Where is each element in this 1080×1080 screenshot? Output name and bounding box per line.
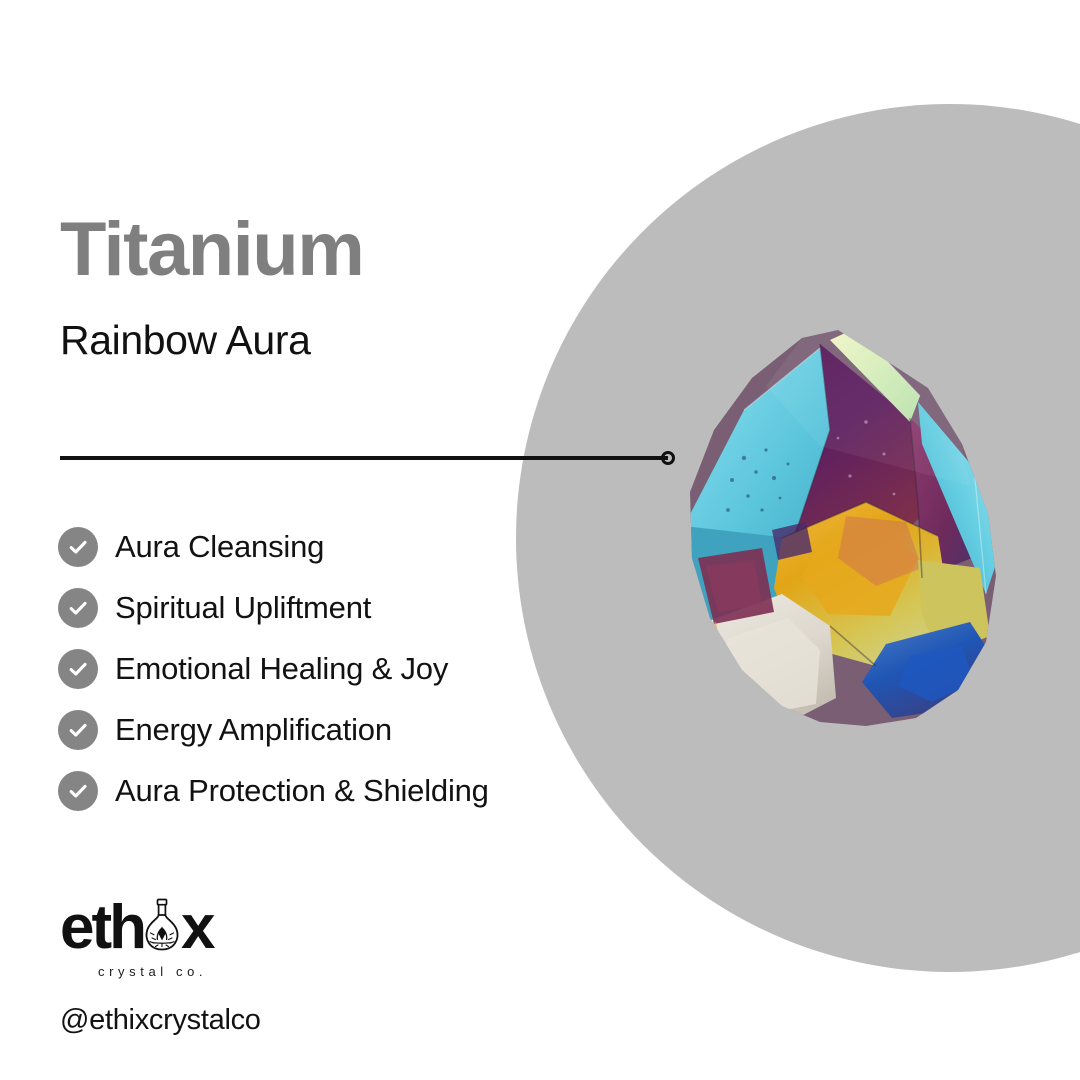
list-item: Emotional Healing & Joy xyxy=(58,638,618,699)
pointer-node-icon xyxy=(661,451,675,465)
check-circle-icon xyxy=(58,588,98,628)
benefit-label: Aura Cleansing xyxy=(115,531,324,562)
list-item: Aura Protection & Shielding xyxy=(58,760,618,821)
check-circle-icon xyxy=(58,771,98,811)
wordmark-text-right: x xyxy=(181,899,212,956)
promo-card: Titanium Rainbow Aura Aura Cleansing Spi… xyxy=(0,0,1080,1080)
potion-flask-icon xyxy=(142,898,182,956)
benefit-label: Energy Amplification xyxy=(115,714,392,745)
pointer-line xyxy=(60,456,668,460)
page-title: Titanium xyxy=(60,212,620,288)
benefits-list: Aura Cleansing Spiritual Upliftment Emot… xyxy=(58,516,618,821)
headline-block: Titanium Rainbow Aura xyxy=(60,212,620,361)
list-item: Energy Amplification xyxy=(58,699,618,760)
crystal-product-image xyxy=(670,326,1006,726)
benefit-label: Emotional Healing & Joy xyxy=(115,653,448,684)
wordmark-text-left: eth xyxy=(60,899,144,956)
list-item: Aura Cleansing xyxy=(58,516,618,577)
benefit-label: Aura Protection & Shielding xyxy=(115,775,489,806)
benefit-label: Spiritual Upliftment xyxy=(115,592,371,623)
check-circle-icon xyxy=(58,710,98,750)
brand-block: eth xyxy=(60,898,261,1035)
brand-logo: eth xyxy=(60,898,261,956)
check-circle-icon xyxy=(58,649,98,689)
pointer-rule xyxy=(60,450,680,466)
page-subtitle: Rainbow Aura xyxy=(60,288,620,361)
list-item: Spiritual Upliftment xyxy=(58,577,618,638)
check-circle-icon xyxy=(58,527,98,567)
social-handle: @ethixcrystalco xyxy=(60,978,261,1035)
